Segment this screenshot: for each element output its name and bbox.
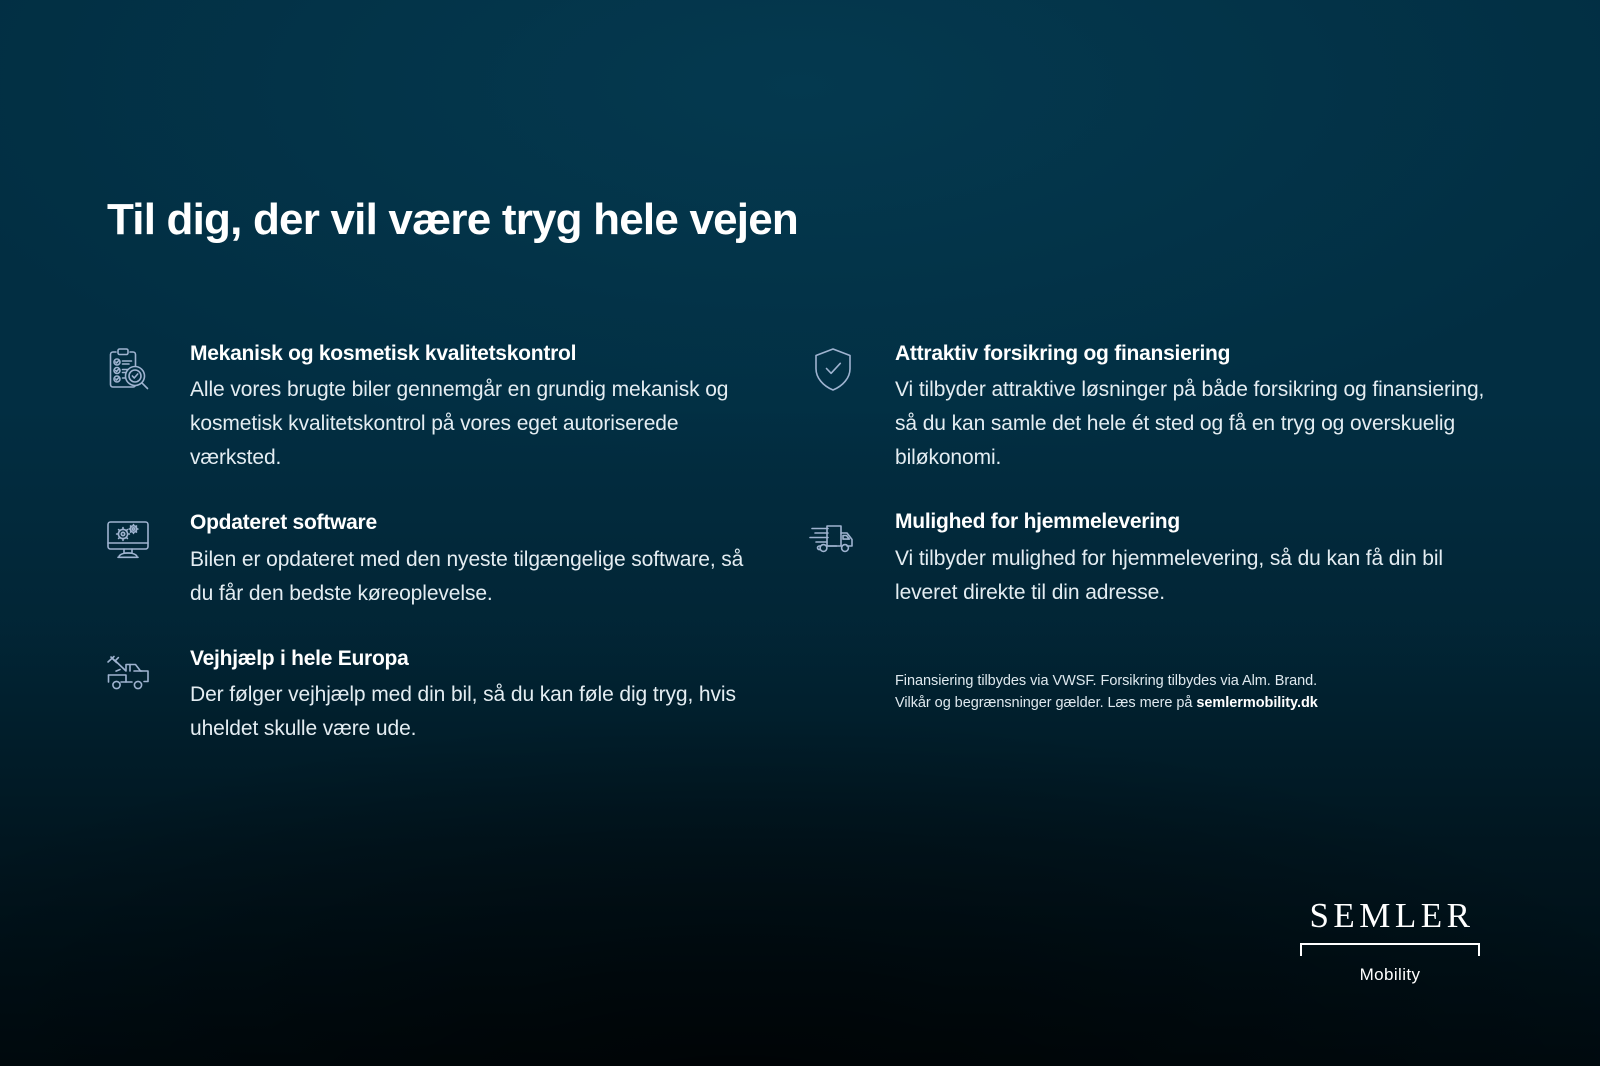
disclaimer-line-1: Finansiering tilbydes via VWSF. Forsikri…	[895, 670, 1455, 692]
feature-text: Der følger vejhjælp med din bil, så du k…	[190, 678, 760, 746]
logo-subtitle: Mobility	[1300, 965, 1480, 985]
feature-roadside-assistance: Vejhjælp i hele Europa Der følger vejhjæ…	[100, 645, 760, 746]
disclaimer: Finansiering tilbydes via VWSF. Forsikri…	[895, 670, 1455, 715]
feature-title: Vejhjælp i hele Europa	[190, 645, 760, 672]
feature-body: Mulighed for hjemmelevering Vi tilbyder …	[895, 508, 1495, 609]
feature-title: Mulighed for hjemmelevering	[895, 508, 1495, 535]
feature-body: Vejhjælp i hele Europa Der følger vejhjæ…	[190, 645, 760, 746]
logo-wordmark: SEMLER	[1300, 898, 1480, 933]
feature-insurance-financing: Attraktiv forsikring og finansiering Vi …	[805, 340, 1495, 475]
feature-quality-control: Mekanisk og kosmetisk kvalitetskontrol A…	[100, 340, 760, 475]
feature-title: Attraktiv forsikring og finansiering	[895, 340, 1495, 367]
shield-check-icon	[805, 340, 861, 396]
feature-updated-software: Opdateret software Bilen er opdateret me…	[100, 509, 760, 610]
feature-title: Opdateret software	[190, 509, 760, 536]
feature-body: Opdateret software Bilen er opdateret me…	[190, 509, 760, 610]
features-column-left: Mekanisk og kosmetisk kvalitetskontrol A…	[100, 340, 760, 746]
disclaimer-line-2-prefix: Vilkår og begrænsninger gælder. Læs mere…	[895, 695, 1196, 711]
semlermobility-link[interactable]: semlermobility.dk	[1196, 695, 1317, 711]
semler-mobility-logo: SEMLER Mobility	[1300, 898, 1480, 985]
feature-text: Alle vores brugte biler gennemgår en gru…	[190, 373, 760, 475]
monitor-gears-icon	[100, 509, 156, 565]
feature-text: Vi tilbyder mulighed for hjemmelevering,…	[895, 542, 1495, 610]
feature-body: Mekanisk og kosmetisk kvalitetskontrol A…	[190, 340, 760, 475]
disclaimer-line-2: Vilkår og begrænsninger gælder. Læs mere…	[895, 692, 1455, 714]
features-column-right: Attraktiv forsikring og finansiering Vi …	[805, 340, 1495, 610]
feature-text: Vi tilbyder attraktive løsninger på både…	[895, 373, 1495, 475]
feature-body: Attraktiv forsikring og finansiering Vi …	[895, 340, 1495, 475]
page-title: Til dig, der vil være tryg hele vejen	[107, 195, 798, 245]
page-root: Til dig, der vil være tryg hele vejen	[0, 0, 1600, 1066]
feature-text: Bilen er opdateret med den nyeste tilgæn…	[190, 543, 760, 611]
logo-divider-rule	[1300, 943, 1480, 956]
delivery-truck-icon	[805, 508, 861, 564]
clipboard-checklist-magnifier-icon	[100, 340, 156, 396]
feature-home-delivery: Mulighed for hjemmelevering Vi tilbyder …	[805, 508, 1495, 609]
tow-truck-icon	[100, 645, 156, 701]
feature-title: Mekanisk og kosmetisk kvalitetskontrol	[190, 340, 760, 367]
